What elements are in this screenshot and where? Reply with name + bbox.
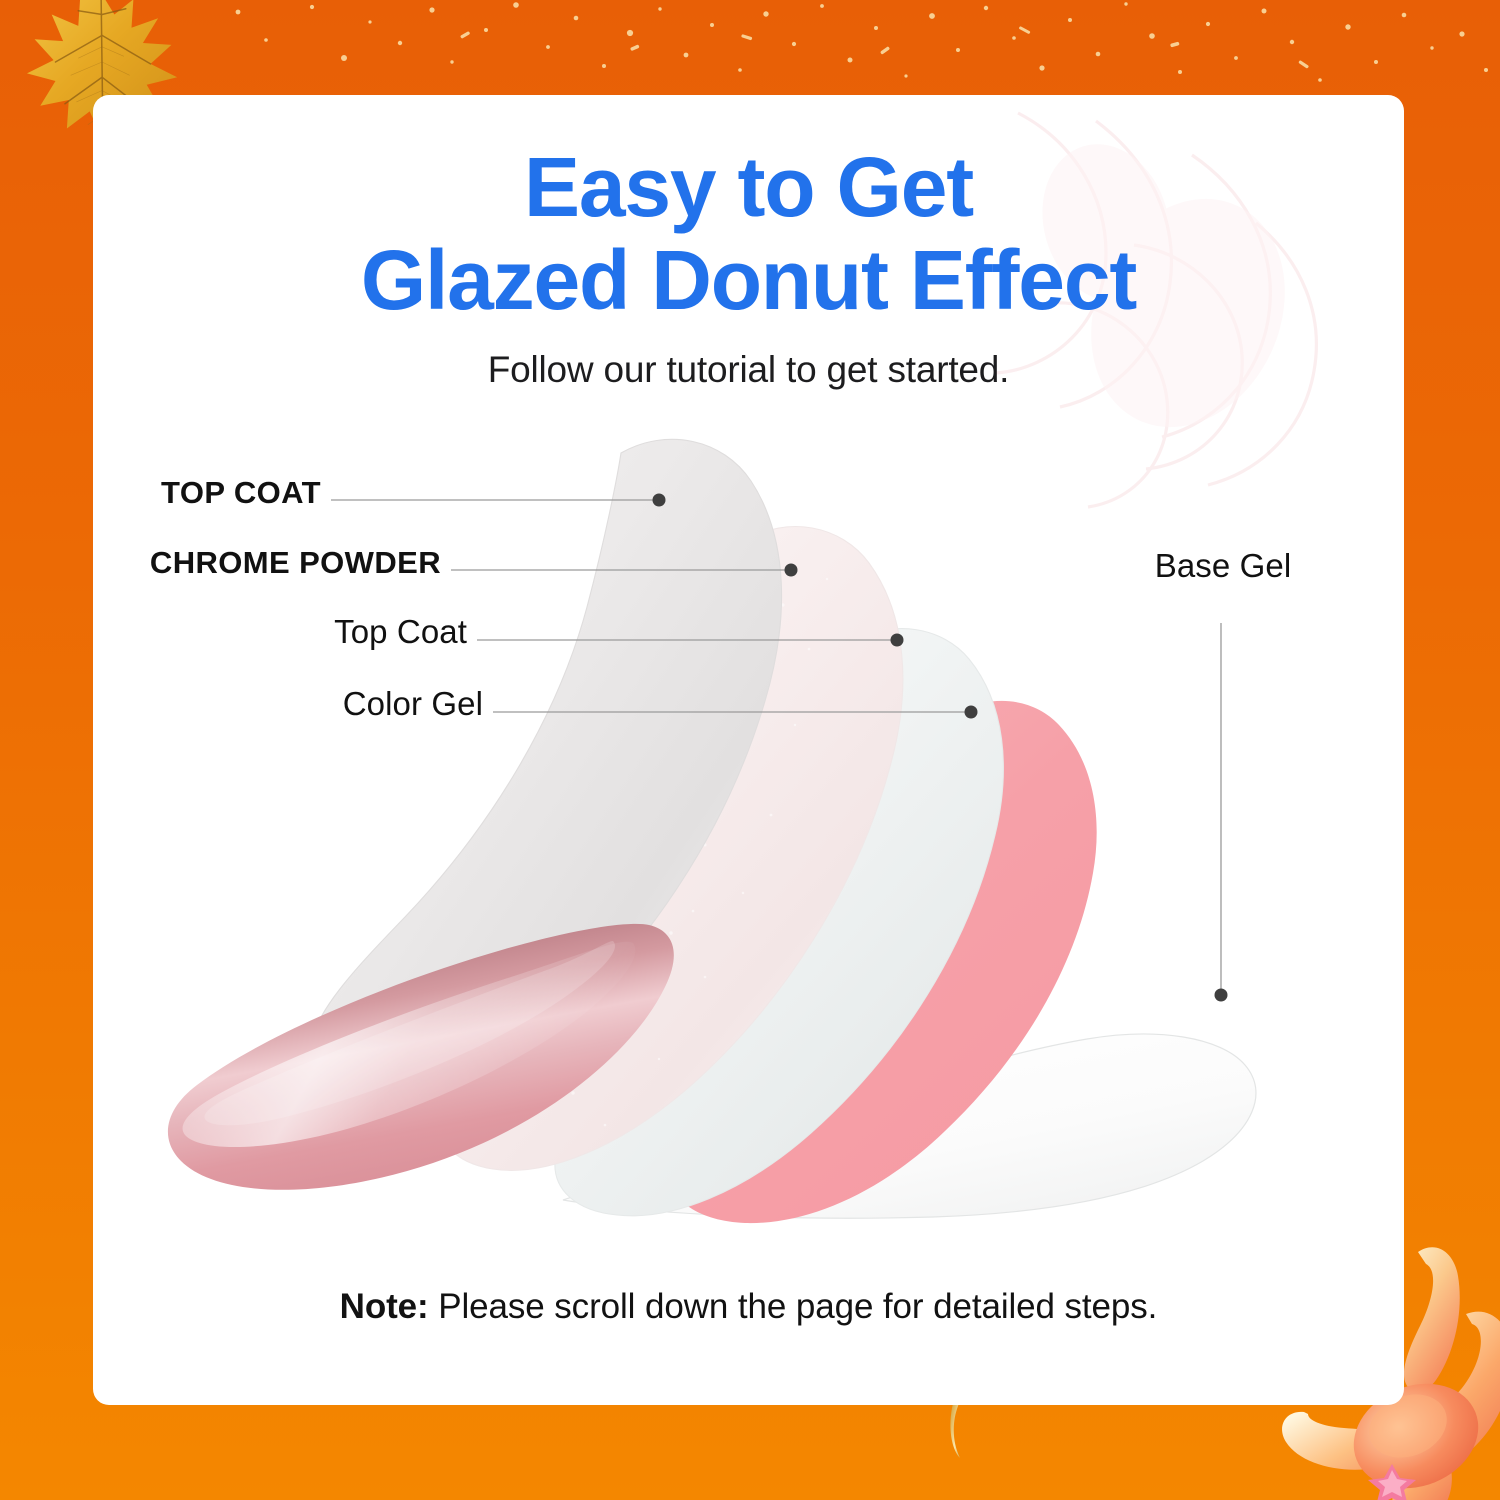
content-card: Easy to Get Glazed Donut Effect Follow o… [93, 95, 1404, 1405]
nail-layers-diagram: TOP COAT CHROME POWDER Top Coat Color Ge… [93, 425, 1404, 1225]
footer-note: Note: Please scroll down the page for de… [93, 1287, 1404, 1327]
label-top-coat: Top Coat [93, 613, 467, 651]
label-color-gel: Color Gel [93, 685, 483, 723]
page-subtitle: Follow our tutorial to get started. [93, 349, 1404, 391]
header-block: Easy to Get Glazed Donut Effect Follow o… [93, 141, 1404, 391]
label-chrome-powder: CHROME POWDER [93, 545, 441, 581]
label-base-gel: Base Gel [1123, 547, 1323, 585]
page-title-line1: Easy to Get [93, 141, 1404, 234]
poster-canvas: Easy to Get Glazed Donut Effect Follow o… [0, 0, 1500, 1500]
footer-note-text: Please scroll down the page for detailed… [438, 1287, 1157, 1326]
label-top-coat-final: TOP COAT [93, 475, 321, 511]
footer-note-label: Note: [340, 1287, 429, 1326]
page-title-line2: Glazed Donut Effect [93, 234, 1404, 327]
